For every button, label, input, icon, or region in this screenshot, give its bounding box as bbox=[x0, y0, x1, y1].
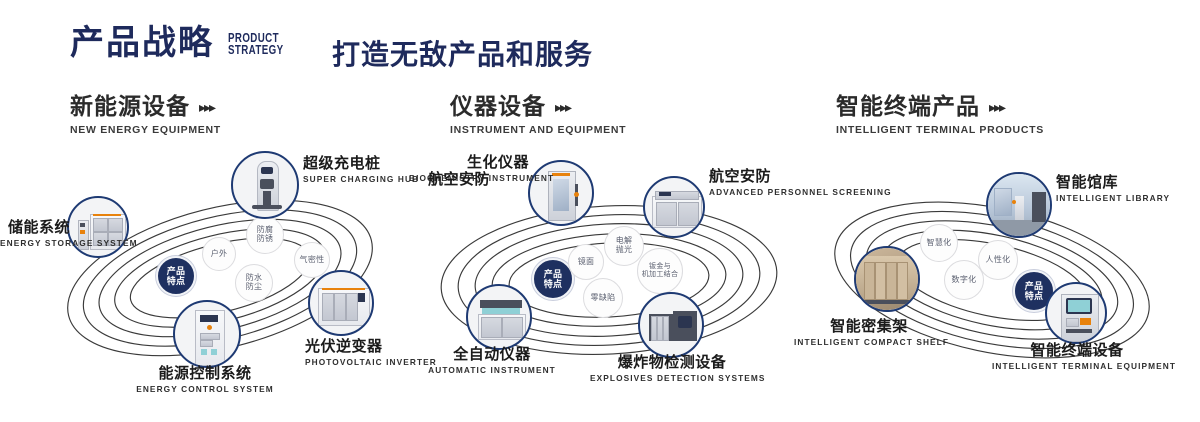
feature-bubble-mirror: 镜面 bbox=[568, 244, 604, 280]
node-intelligent-library[interactable] bbox=[986, 172, 1052, 238]
chevron-right-icon: ▸▸▸ bbox=[555, 100, 570, 115]
node-automatic-instrument[interactable] bbox=[466, 284, 532, 350]
bubble-line-1: 产品 bbox=[167, 266, 186, 276]
feature-bubble-zerodefect: 零缺陷 bbox=[583, 278, 623, 318]
bubble-line-2: 特点 bbox=[544, 279, 563, 289]
feature-bubble-humanized: 人性化 bbox=[978, 240, 1018, 280]
node-label-cn: 储能系统 bbox=[0, 219, 70, 236]
feature-bubble-smart: 智慧化 bbox=[920, 224, 958, 262]
feature-bubble-anticorrosion: 防腐 防锈 bbox=[246, 216, 284, 254]
node-label-cn: 航空安防 bbox=[394, 171, 490, 188]
page-title-en-line1: PRODUCT bbox=[228, 32, 283, 45]
node-photovoltaic-inverter[interactable] bbox=[308, 270, 374, 336]
cluster-new-energy: 产品 特点 户外 防腐 防锈 气密性 防水 防尘 bbox=[40, 160, 400, 390]
node-label-en: INTELLIGENT COMPACT SHELF bbox=[794, 337, 944, 347]
section-title-text: 智能终端产品 bbox=[836, 94, 980, 119]
bubble-line-2: 机加工结合 bbox=[642, 271, 679, 279]
chevron-right-icon: ▸▸▸ bbox=[989, 100, 1004, 115]
kiosk-terminal-icon bbox=[1047, 284, 1105, 342]
node-label-cn: 智能馆库 bbox=[1056, 174, 1170, 191]
bubble-line-2: 抛光 bbox=[616, 246, 633, 255]
node-label-en: INTELLIGENT LIBRARY bbox=[1056, 193, 1170, 203]
bubble-line-1: 数字化 bbox=[952, 276, 977, 285]
bubble-line-1: 人性化 bbox=[986, 256, 1011, 265]
bubble-line-2: 特点 bbox=[1025, 291, 1044, 301]
page-title-en-line2: STRATEGY bbox=[228, 44, 283, 57]
security-gate-icon bbox=[530, 162, 592, 224]
pv-inverter-icon bbox=[310, 272, 372, 334]
node-label-energy-control-system: 能源控制系统 ENERGY CONTROL SYSTEM bbox=[100, 365, 310, 395]
node-label-aviation-security: 航空安防 bbox=[394, 171, 490, 188]
bubble-line-1: 钣金与 bbox=[649, 263, 671, 271]
section-heading-en: INTELLIGENT TERMINAL PRODUCTS bbox=[836, 124, 1044, 136]
cluster-instrument: 产品 特点 镜面 电解 抛光 钣金与 机加工结合 零缺陷 bbox=[424, 168, 794, 393]
bubble-line-1: 户外 bbox=[211, 250, 228, 259]
section-heading-intelligent-terminal: 智能终端产品 ▸▸▸ INTELLIGENT TERMINAL PRODUCTS bbox=[836, 94, 1044, 136]
section-title-text: 仪器设备 bbox=[450, 94, 546, 119]
node-explosives-detection-systems[interactable] bbox=[638, 292, 704, 358]
page-header: 产品战略 PRODUCT STRATEGY bbox=[70, 26, 299, 60]
section-heading-new-energy: 新能源设备 ▸▸▸ NEW ENERGY EQUIPMENT bbox=[70, 94, 221, 136]
bubble-line-1: 气密性 bbox=[300, 256, 325, 265]
node-biochemistry-instrument[interactable] bbox=[528, 160, 594, 226]
analyzer-machine-icon bbox=[645, 178, 703, 236]
node-intelligent-compact-shelf[interactable] bbox=[854, 246, 920, 312]
node-label-cn: 智能终端设备 bbox=[992, 342, 1162, 359]
bubble-line-2: 防尘 bbox=[246, 283, 263, 292]
node-label-cn: 生化仪器 bbox=[409, 154, 529, 171]
feature-bubble-outdoor: 户外 bbox=[202, 237, 236, 271]
feature-bubble-waterproof: 防水 防尘 bbox=[235, 264, 273, 302]
node-label-intelligent-compact-shelf: 智能密集架 INTELLIGENT COMPACT SHELF bbox=[794, 318, 944, 348]
page-slogan: 打造无敌产品和服务 bbox=[332, 33, 593, 73]
node-label-cn: 能源控制系统 bbox=[100, 365, 310, 382]
section-heading-instrument: 仪器设备 ▸▸▸ INSTRUMENT AND EQUIPMENT bbox=[450, 94, 626, 136]
feature-bubble-main: 产品 特点 bbox=[156, 256, 196, 296]
compact-shelf-icon bbox=[856, 248, 918, 310]
node-energy-storage-system[interactable] bbox=[67, 196, 129, 258]
section-heading-en: INSTRUMENT AND EQUIPMENT bbox=[450, 124, 626, 136]
node-label-cn: 全自动仪器 bbox=[409, 346, 575, 363]
node-label-automatic-instrument: 全自动仪器 AUTOMATIC INSTRUMENT bbox=[409, 346, 575, 376]
node-label-en: INTELLIGENT TERMINAL EQUIPMENT bbox=[992, 361, 1162, 371]
node-super-charging-hub[interactable] bbox=[231, 151, 299, 219]
section-heading-en: NEW ENERGY EQUIPMENT bbox=[70, 124, 221, 136]
node-advanced-personnel-screening[interactable] bbox=[643, 176, 705, 238]
feature-bubble-electropolish: 电解 抛光 bbox=[604, 226, 644, 266]
chevron-right-icon: ▸▸▸ bbox=[199, 100, 214, 115]
product-strategy-infographic: 产品战略 PRODUCT STRATEGY 打造无敌产品和服务 新能源设备 ▸▸… bbox=[0, 0, 1200, 422]
page-title: 产品战略 bbox=[70, 26, 214, 60]
detection-unit-icon bbox=[640, 294, 702, 356]
control-cabinet-icon bbox=[175, 302, 239, 366]
feature-bubble-digital: 数字化 bbox=[944, 260, 984, 300]
bubble-line-1: 智慧化 bbox=[927, 239, 952, 248]
node-energy-control-system[interactable] bbox=[173, 300, 241, 368]
node-label-intelligent-library: 智能馆库 INTELLIGENT LIBRARY bbox=[1056, 174, 1170, 204]
bubble-line-1: 零缺陷 bbox=[591, 294, 616, 303]
node-label-explosives-detection-systems: 爆炸物检测设备 EXPLOSIVES DETECTION SYSTEMS bbox=[590, 354, 754, 384]
node-label-cn: 超级充电桩 bbox=[303, 155, 419, 172]
node-intelligent-terminal-equipment[interactable] bbox=[1045, 282, 1107, 344]
bubble-line-2: 特点 bbox=[167, 276, 186, 286]
node-label-en: ENERGY STORAGE SYSTEM bbox=[0, 238, 70, 248]
node-label-cn: 爆炸物检测设备 bbox=[590, 354, 754, 371]
bubble-line-1: 产品 bbox=[544, 269, 563, 279]
node-label-en: ENERGY CONTROL SYSTEM bbox=[100, 384, 310, 394]
bubble-line-1: 产品 bbox=[1025, 281, 1044, 291]
section-heading-cn: 仪器设备 ▸▸▸ bbox=[450, 94, 626, 119]
node-label-en: EXPLOSIVES DETECTION SYSTEMS bbox=[590, 373, 754, 383]
page-title-en: PRODUCT STRATEGY bbox=[228, 32, 283, 61]
cluster-intelligent-terminal: 智慧化 人性化 数字化 产品 特点 智能馆库 INTELLIGENT LIBRA… bbox=[812, 172, 1172, 392]
section-heading-cn: 新能源设备 ▸▸▸ bbox=[70, 94, 221, 119]
library-room-icon bbox=[988, 174, 1050, 236]
bubble-line-2: 防锈 bbox=[257, 235, 274, 244]
section-heading-cn: 智能终端产品 ▸▸▸ bbox=[836, 94, 1044, 119]
node-label-cn: 智能密集架 bbox=[794, 318, 944, 335]
charging-pile-icon bbox=[233, 153, 297, 217]
node-label-en: AUTOMATIC INSTRUMENT bbox=[409, 365, 575, 375]
bubble-line-1: 镜面 bbox=[578, 258, 595, 267]
node-label-intelligent-terminal-equipment: 智能终端设备 INTELLIGENT TERMINAL EQUIPMENT bbox=[992, 342, 1162, 372]
automatic-instrument-icon bbox=[468, 286, 530, 348]
section-title-text: 新能源设备 bbox=[70, 94, 190, 119]
feature-bubble-sheetmetal: 钣金与 机加工结合 bbox=[637, 248, 683, 294]
node-label-energy-storage-system: 储能系统 ENERGY STORAGE SYSTEM bbox=[0, 219, 70, 249]
